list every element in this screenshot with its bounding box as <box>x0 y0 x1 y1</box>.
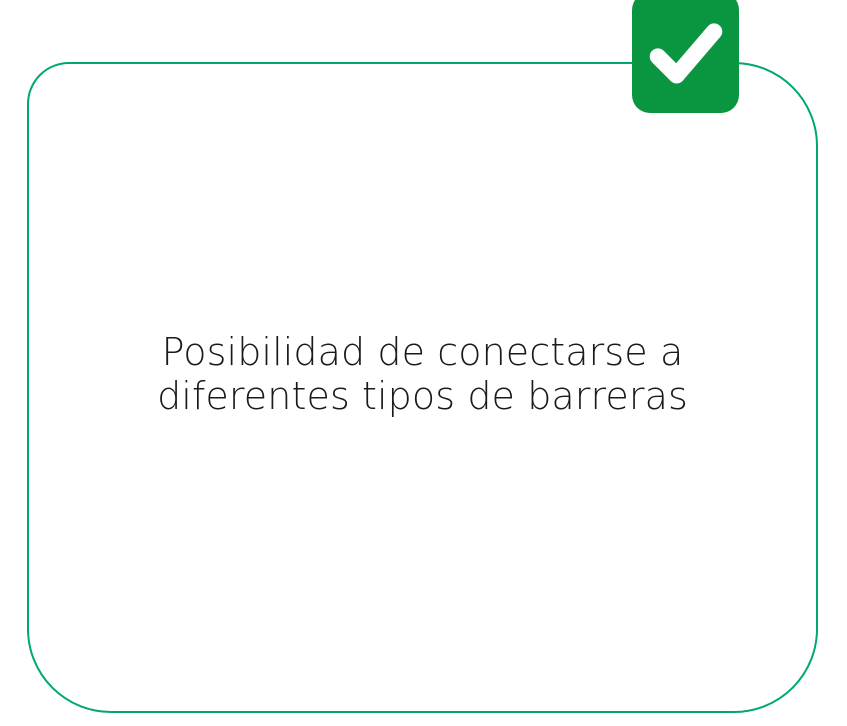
check-badge <box>632 0 739 113</box>
feature-caption: Posibilidad de conectarse a diferentes t… <box>27 330 818 418</box>
caption-line-1: Posibilidad de conectarse a <box>27 330 818 374</box>
check-mark-icon <box>647 16 725 94</box>
caption-line-2: diferentes tipos de barreras <box>27 374 818 418</box>
slide-canvas: Posibilidad de conectarse a diferentes t… <box>0 0 847 726</box>
